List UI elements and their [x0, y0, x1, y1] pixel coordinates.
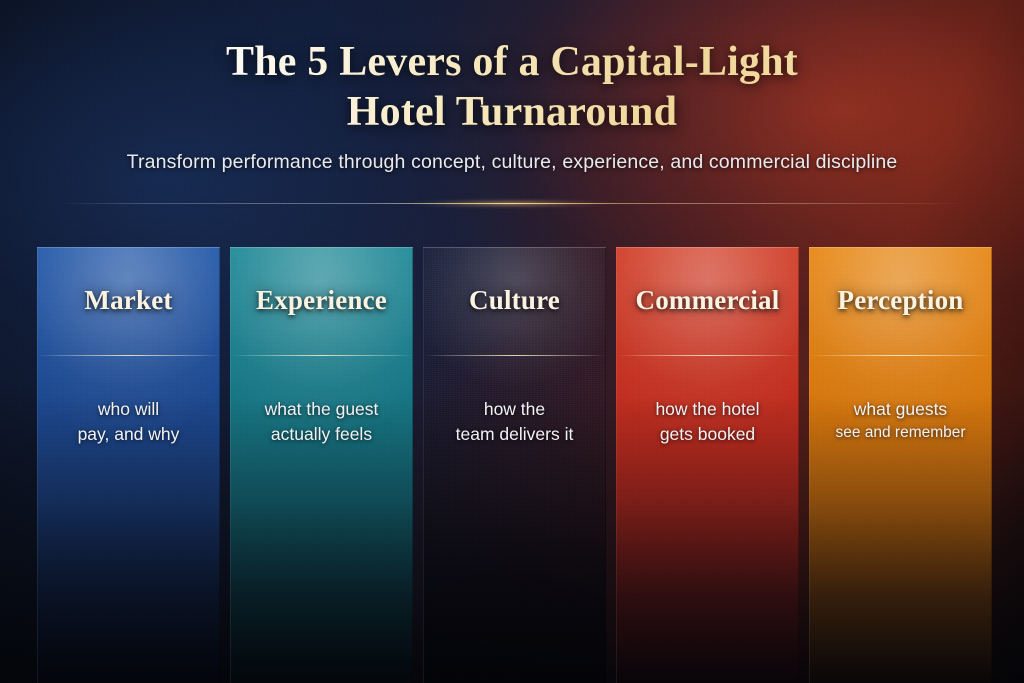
card-divider: [423, 355, 606, 356]
card-description-line-1: what the guest: [265, 399, 379, 419]
page-title-line-2: Hotel Turnaround: [0, 88, 1024, 138]
page-title: The 5 Levers of a Capital-Light Hotel Tu…: [0, 0, 1024, 137]
header-divider-glow: [380, 199, 640, 208]
card-description-line-2: team delivers it: [431, 422, 598, 447]
card-divider: [616, 355, 799, 356]
lever-card-experience[interactable]: Experience what the guest actually feels: [230, 247, 413, 683]
card-content: Perception what guests see and remember: [809, 247, 992, 683]
page-subtitle: Transform performance through concept, c…: [0, 151, 1024, 174]
card-description-line-1: who will: [98, 399, 159, 419]
card-title: Perception: [809, 247, 992, 316]
card-description: who will pay, and why: [45, 397, 212, 447]
card-description-line-1: how the: [484, 399, 545, 419]
card-content: Commercial how the hotel gets booked: [616, 247, 799, 683]
card-description: what the guest actually feels: [238, 397, 405, 447]
page-title-line-1: The 5 Levers of a Capital-Light: [226, 39, 798, 85]
card-content: Experience what the guest actually feels: [230, 247, 413, 683]
card-description-line-2: see and remember: [817, 422, 984, 444]
card-description-line-1: what guests: [854, 399, 947, 419]
card-description-line-1: how the hotel: [655, 399, 759, 419]
levers-card-row: Market who will pay, and why Experience …: [37, 247, 992, 683]
slide-canvas: The 5 Levers of a Capital-Light Hotel Tu…: [0, 0, 1024, 683]
card-content: Market who will pay, and why: [37, 247, 220, 683]
lever-card-perception[interactable]: Perception what guests see and remember: [809, 247, 992, 683]
card-description: what guests see and remember: [817, 397, 984, 445]
card-description: how the team delivers it: [431, 397, 598, 447]
card-title: Commercial: [616, 247, 799, 316]
card-title: Culture: [423, 247, 606, 316]
lever-card-market[interactable]: Market who will pay, and why: [37, 247, 220, 683]
card-description-line-2: pay, and why: [45, 422, 212, 447]
card-title: Experience: [230, 247, 413, 316]
slide-header: The 5 Levers of a Capital-Light Hotel Tu…: [0, 0, 1024, 174]
card-description-line-2: actually feels: [238, 422, 405, 447]
card-description: how the hotel gets booked: [624, 397, 791, 447]
card-divider: [809, 355, 992, 356]
card-divider: [37, 355, 220, 356]
lever-card-culture[interactable]: Culture how the team delivers it: [423, 247, 606, 683]
card-divider: [230, 355, 413, 356]
card-description-line-2: gets booked: [624, 422, 791, 447]
card-title: Market: [37, 247, 220, 316]
lever-card-commercial[interactable]: Commercial how the hotel gets booked: [616, 247, 799, 683]
card-content: Culture how the team delivers it: [423, 247, 606, 683]
